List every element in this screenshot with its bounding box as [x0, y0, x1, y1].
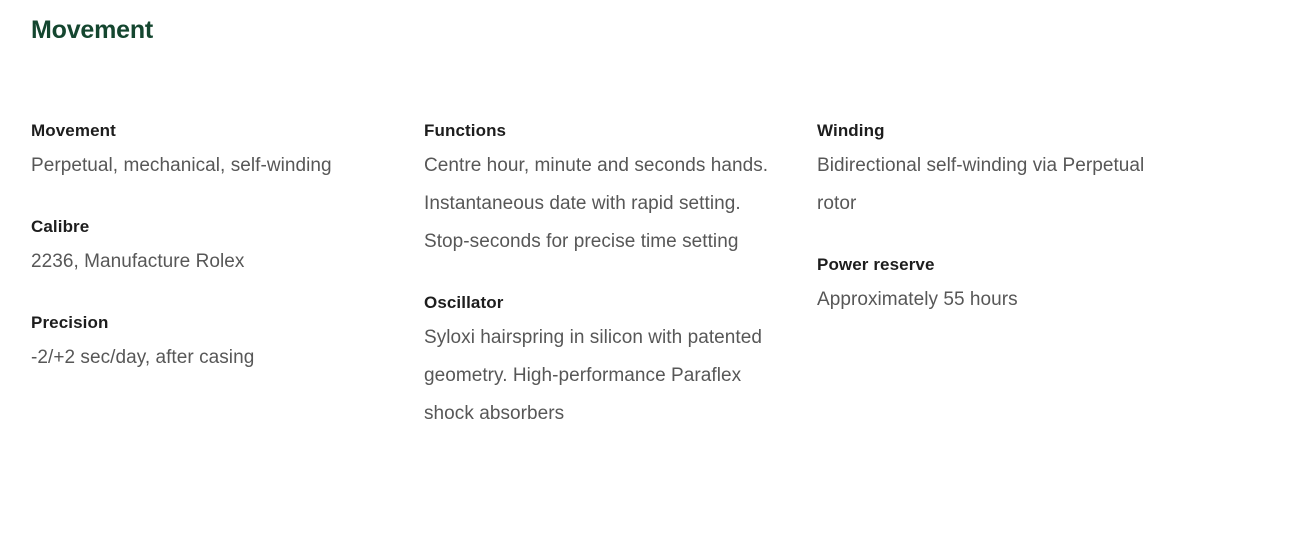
spec-heading-calibre: Calibre [31, 215, 391, 239]
spec-heading-oscillator: Oscillator [424, 291, 784, 315]
spec-heading-movement: Movement [31, 119, 391, 143]
spec-group-calibre: Calibre 2236, Manufacture Rolex [31, 215, 391, 281]
movement-specifications-page: Movement Movement Perpetual, mechanical,… [0, 0, 1289, 541]
spec-column-3: Winding Bidirectional self-winding via P… [817, 119, 1177, 319]
spec-heading-precision: Precision [31, 311, 391, 335]
spec-group-movement: Movement Perpetual, mechanical, self-win… [31, 119, 391, 185]
spec-value-movement: Perpetual, mechanical, self-winding [31, 147, 386, 185]
spec-value-winding: Bidirectional self-winding via Perpetual… [817, 147, 1172, 223]
spec-value-precision: -2/+2 sec/day, after casing [31, 339, 386, 377]
spec-column-1: Movement Perpetual, mechanical, self-win… [31, 119, 391, 377]
spec-group-functions: Functions Centre hour, minute and second… [424, 119, 784, 261]
spec-columns-container: Movement Perpetual, mechanical, self-win… [31, 119, 1261, 433]
spec-column-2: Functions Centre hour, minute and second… [424, 119, 784, 433]
spec-heading-winding: Winding [817, 119, 1177, 143]
spec-heading-functions: Functions [424, 119, 784, 143]
spec-group-oscillator: Oscillator Syloxi hairspring in silicon … [424, 291, 784, 433]
spec-group-precision: Precision -2/+2 sec/day, after casing [31, 311, 391, 377]
spec-value-functions: Centre hour, minute and seconds hands. I… [424, 147, 779, 261]
spec-group-winding: Winding Bidirectional self-winding via P… [817, 119, 1177, 223]
spec-value-calibre: 2236, Manufacture Rolex [31, 243, 386, 281]
spec-heading-power-reserve: Power reserve [817, 253, 1177, 277]
page-title: Movement [31, 13, 153, 47]
spec-value-oscillator: Syloxi hairspring in silicon with patent… [424, 319, 779, 433]
spec-group-power-reserve: Power reserve Approximately 55 hours [817, 253, 1177, 319]
spec-value-power-reserve: Approximately 55 hours [817, 281, 1172, 319]
